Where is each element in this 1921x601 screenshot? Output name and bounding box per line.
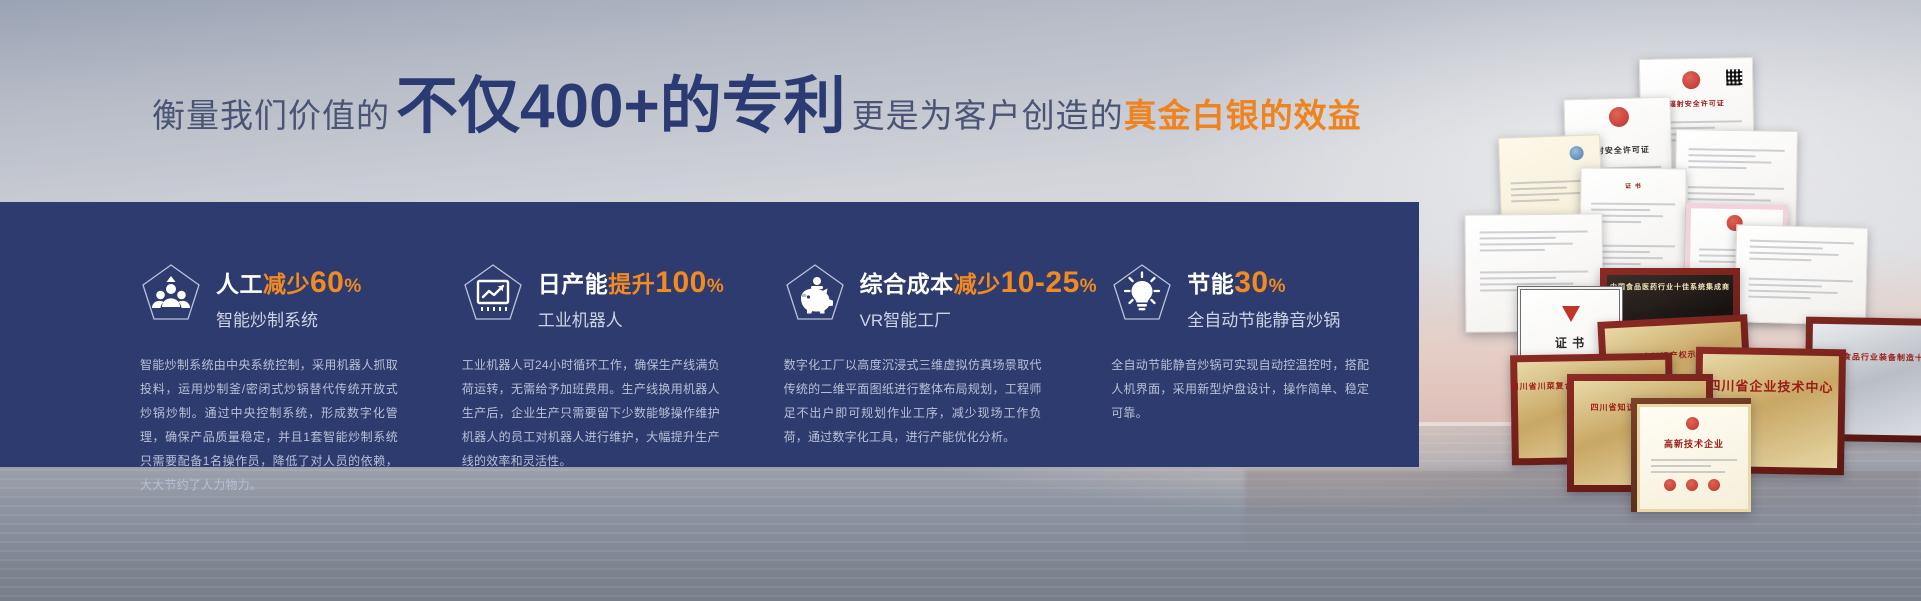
feature-title-accent: 提升 (608, 271, 655, 297)
feature-title-unit: % (344, 276, 361, 297)
feature-text: 综合成本减少10-25% VR智能工厂 (860, 262, 1098, 331)
feature-title-unit: % (707, 276, 724, 297)
certificate-label: 四川省企业技术中心 (1695, 375, 1845, 397)
certificate-label: 高新技术企业 (1640, 437, 1748, 450)
feature-title-accent: 减少 (263, 271, 310, 297)
headline-emphasis: 不仅400+的专利 (396, 76, 846, 138)
feature-item-capacity: 日产能提升100% 工业机器人 工业机器人可24小时循环工作，确保生产线满负荷运… (462, 202, 770, 467)
feature-title: 综合成本减少10-25% (860, 266, 1098, 299)
features-list: 人工减少60% 智能炒制系统 智能炒制系统由中央系统控制，采用机器人抓取投料，运… (0, 202, 1419, 467)
feature-subtitle: 工业机器人 (538, 306, 724, 331)
feature-subtitle: VR智能工厂 (860, 306, 1098, 331)
feature-title-number: 10-25 (1001, 266, 1080, 299)
feature-title-accent: 减少 (954, 271, 1001, 297)
promo-banner: 衡量我们价值的 不仅400+的专利 更是为客户创造的 真金白银的效益 (0, 0, 1921, 601)
feature-header: 人工减少60% 智能炒制系统 (140, 262, 448, 331)
feature-body: 智能炒制系统由中央系统控制，采用机器人抓取投料，运用炒制釜/密闭式炒锅替代传统开… (140, 353, 398, 497)
feature-header: 综合成本减少10-25% VR智能工厂 (784, 262, 1098, 331)
feature-title-number: 60 (310, 266, 344, 299)
feature-item-cost: 综合成本减少10-25% VR智能工厂 数字化工厂以高度沉浸式三维虚拟仿真场景取… (784, 202, 1098, 467)
feature-item-labor: 人工减少60% 智能炒制系统 智能炒制系统由中央系统控制，采用机器人抓取投料，运… (140, 202, 448, 467)
feature-body: 数字化工厂以高度沉浸式三维虚拟仿真场景取代传统的二维平面图纸进行整体布局规划，工… (784, 353, 1042, 449)
feature-title-prefix: 综合成本 (860, 271, 954, 297)
headline-mid: 更是为客户创造的 (852, 89, 1124, 137)
feature-text: 日产能提升100% 工业机器人 (538, 262, 724, 331)
chart-board-icon (462, 262, 524, 324)
headline-lead: 衡量我们价值的 (152, 89, 390, 137)
feature-title-prefix: 日产能 (538, 271, 609, 297)
certificate-label: 证 书 (1581, 181, 1685, 191)
feature-header: 日产能提升100% 工业机器人 (462, 262, 770, 331)
feature-body: 工业机器人可24小时循环工作，确保生产线满负荷运转，无需给予加班费用。生产线换用… (462, 353, 720, 473)
feature-title: 日产能提升100% (538, 266, 724, 299)
certificates-stack: 辐射安全许可证 辐射安全许可证 证 书 (1245, 18, 1921, 488)
feature-title-prefix: 节能 (1187, 271, 1234, 297)
feature-title-prefix: 人工 (216, 271, 263, 297)
feature-text: 人工减少60% 智能炒制系统 (216, 262, 362, 331)
feature-title-unit: % (1080, 276, 1097, 297)
features-panel: 人工减少60% 智能炒制系统 智能炒制系统由中央系统控制，采用机器人抓取投料，运… (0, 202, 1419, 467)
certificate-item (1734, 224, 1869, 325)
feature-title-number: 100 (655, 266, 707, 299)
people-group-icon (140, 262, 202, 324)
feature-subtitle: 智能炒制系统 (216, 306, 362, 331)
piggy-bank-icon (784, 262, 846, 324)
certificate-item: 高新技术企业 (1631, 398, 1751, 512)
lightbulb-icon (1111, 262, 1173, 324)
headline: 衡量我们价值的 不仅400+的专利 更是为客户创造的 真金白银的效益 (152, 76, 1362, 138)
feature-title: 人工减少60% (216, 266, 362, 299)
